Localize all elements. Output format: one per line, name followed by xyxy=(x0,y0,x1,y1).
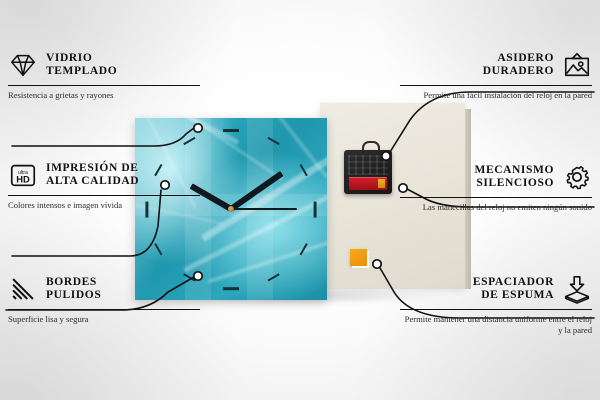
battery-terminal xyxy=(378,179,385,188)
divider xyxy=(8,309,200,310)
hanging-frame-icon xyxy=(562,50,592,80)
infographic-canvas: VIDRIO TEMPLADO Resistencia a grietas y … xyxy=(0,0,600,400)
diamond-icon xyxy=(8,50,38,80)
battery xyxy=(349,177,387,190)
hanging-hook-icon xyxy=(362,141,380,153)
clock-mechanism xyxy=(344,150,392,194)
foam-spacer-pad xyxy=(350,249,367,266)
svg-text:HD: HD xyxy=(16,175,30,185)
divider xyxy=(400,85,592,86)
feature-title: IMPRESIÓN DE ALTA CALIDAD xyxy=(46,162,139,188)
feature-title: ESPACIADOR DE ESPUMA xyxy=(473,276,554,302)
feature-title: MECANISMO SILENCIOSO xyxy=(474,164,554,190)
clock-tick xyxy=(154,242,163,254)
divider xyxy=(8,195,200,196)
feature-description: Permite una fácil instalación del reloj … xyxy=(400,90,592,101)
feature-description: Permite mantener una distancia uniforme … xyxy=(400,314,592,335)
divider xyxy=(8,85,200,86)
feature-title: ASIDERO DURADERO xyxy=(483,52,554,78)
feature-espaciador-de-espuma: ESPACIADOR DE ESPUMA Permite mantener un… xyxy=(400,272,592,335)
clock-tick xyxy=(223,129,239,132)
feature-bordes-pulidos: BORDES PULIDOS Superficie lisa y segura xyxy=(8,272,200,325)
ultra-hd-badge-icon: ultra HD xyxy=(8,160,38,190)
clock-tick xyxy=(313,202,316,218)
polished-edges-icon xyxy=(8,274,38,304)
feature-title: BORDES PULIDOS xyxy=(46,276,101,302)
feature-vidrio-templado: VIDRIO TEMPLADO Resistencia a grietas y … xyxy=(8,48,200,101)
clock-tick xyxy=(223,287,239,290)
feature-impresion-alta-calidad: ultra HD IMPRESIÓN DE ALTA CALIDAD Color… xyxy=(8,158,200,211)
foam-spacer-icon xyxy=(562,274,592,304)
feature-description: Colores intensos e imagen vívida xyxy=(8,200,200,211)
divider xyxy=(400,309,592,310)
feature-description: Superficie lisa y segura xyxy=(8,314,200,325)
clock-center-hub xyxy=(228,206,234,212)
feature-description: Resistencia a grietas y rayones xyxy=(8,90,200,101)
mechanism-housing-detail xyxy=(348,155,388,175)
feature-description: Las manecillas del reloj no emiten ningú… xyxy=(400,202,592,213)
clock-second-hand xyxy=(231,208,297,210)
feature-title: VIDRIO TEMPLADO xyxy=(46,52,117,78)
feature-asidero-duradero: ASIDERO DURADERO Permite una fácil insta… xyxy=(400,48,592,101)
gear-icon xyxy=(562,162,592,192)
divider xyxy=(400,197,592,198)
feature-mecanismo-silencioso: MECANISMO SILENCIOSO Las manecillas del … xyxy=(400,160,592,213)
